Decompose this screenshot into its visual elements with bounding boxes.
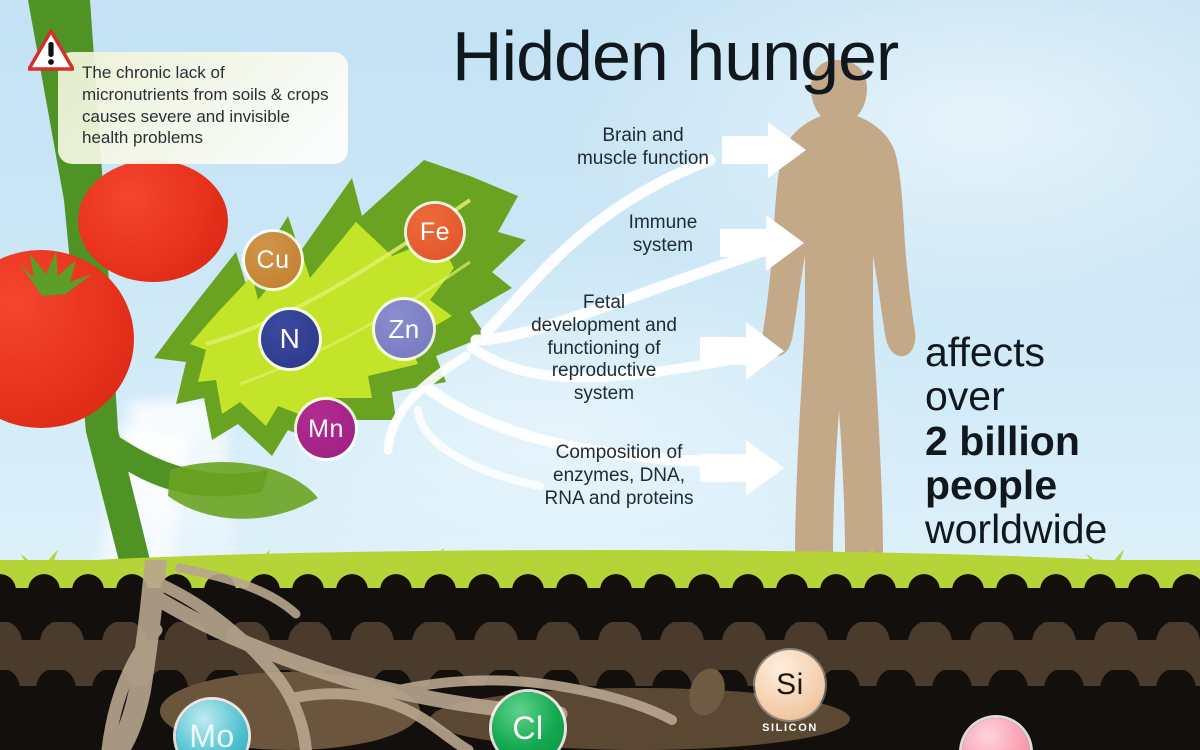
stat-line-2-billion: 2 billion <box>925 418 1080 464</box>
callout-brain-muscle-line2: muscle function <box>548 148 738 171</box>
callout-fetal-line3: functioning of <box>490 338 718 361</box>
callout-brain-muscle-line1: Brain and <box>548 125 738 148</box>
element-symbol-cl: Cl <box>512 712 543 744</box>
element-symbol-cu: Cu <box>257 248 290 273</box>
element-symbol-n: N <box>280 325 301 353</box>
callout-immune-line1: Immune <box>588 212 738 235</box>
callout-fetal-line4: reproductive <box>490 360 718 383</box>
element-bubble-cu[interactable]: Cu <box>245 232 301 288</box>
warning-callout-box: The chronic lack of micronutrients from … <box>58 52 348 164</box>
element-bubble-zn[interactable]: Zn <box>375 300 433 358</box>
element-symbol-mo: Mo <box>189 720 234 750</box>
callout-enzymes-line1: Composition of <box>520 442 718 465</box>
callout-enzymes: Composition of enzymes, DNA, RNA and pro… <box>520 442 718 510</box>
page-title: Hidden hunger <box>452 16 898 96</box>
element-bubble-n[interactable]: N <box>261 310 319 368</box>
warning-triangle-icon <box>28 29 74 71</box>
element-symbol-fe: Fe <box>420 220 450 245</box>
callout-brain-muscle: Brain and muscle function <box>548 125 738 171</box>
callout-fetal-line5: system <box>490 383 718 406</box>
callout-fetal: Fetal development and functioning of rep… <box>490 292 718 406</box>
stat-line-affects: affects <box>925 330 1185 374</box>
element-bubble-mn[interactable]: Mn <box>297 400 355 458</box>
stat-line-people: people <box>925 462 1057 508</box>
element-sublabel-silicon: SILICON <box>730 722 850 734</box>
element-bubble-fe[interactable]: Fe <box>407 204 463 260</box>
callout-fetal-line2: development and <box>490 315 718 338</box>
callout-enzymes-line3: RNA and proteins <box>520 488 718 511</box>
element-symbol-mn: Mn <box>308 417 344 442</box>
infographic-canvas: Brain and muscle function Immune system … <box>0 0 1200 750</box>
stat-line-over: over <box>925 374 1185 418</box>
warning-callout-text: The chronic lack of micronutrients from … <box>82 63 329 147</box>
element-bubble-si[interactable]: Si <box>755 650 825 720</box>
plant-roots-graphic <box>60 560 680 750</box>
callout-enzymes-line2: enzymes, DNA, <box>520 465 718 488</box>
element-symbol-zn: Zn <box>388 316 419 342</box>
callout-immune: Immune system <box>588 212 738 258</box>
element-symbol-si: Si <box>776 670 804 700</box>
stat-line-worldwide: worldwide <box>925 507 1185 551</box>
callout-immune-line2: system <box>588 235 738 258</box>
tomato-calyx-icon <box>0 248 110 308</box>
statistic-block: affects over 2 billion people worldwide <box>925 330 1185 551</box>
callout-fetal-line1: Fetal <box>490 292 718 315</box>
